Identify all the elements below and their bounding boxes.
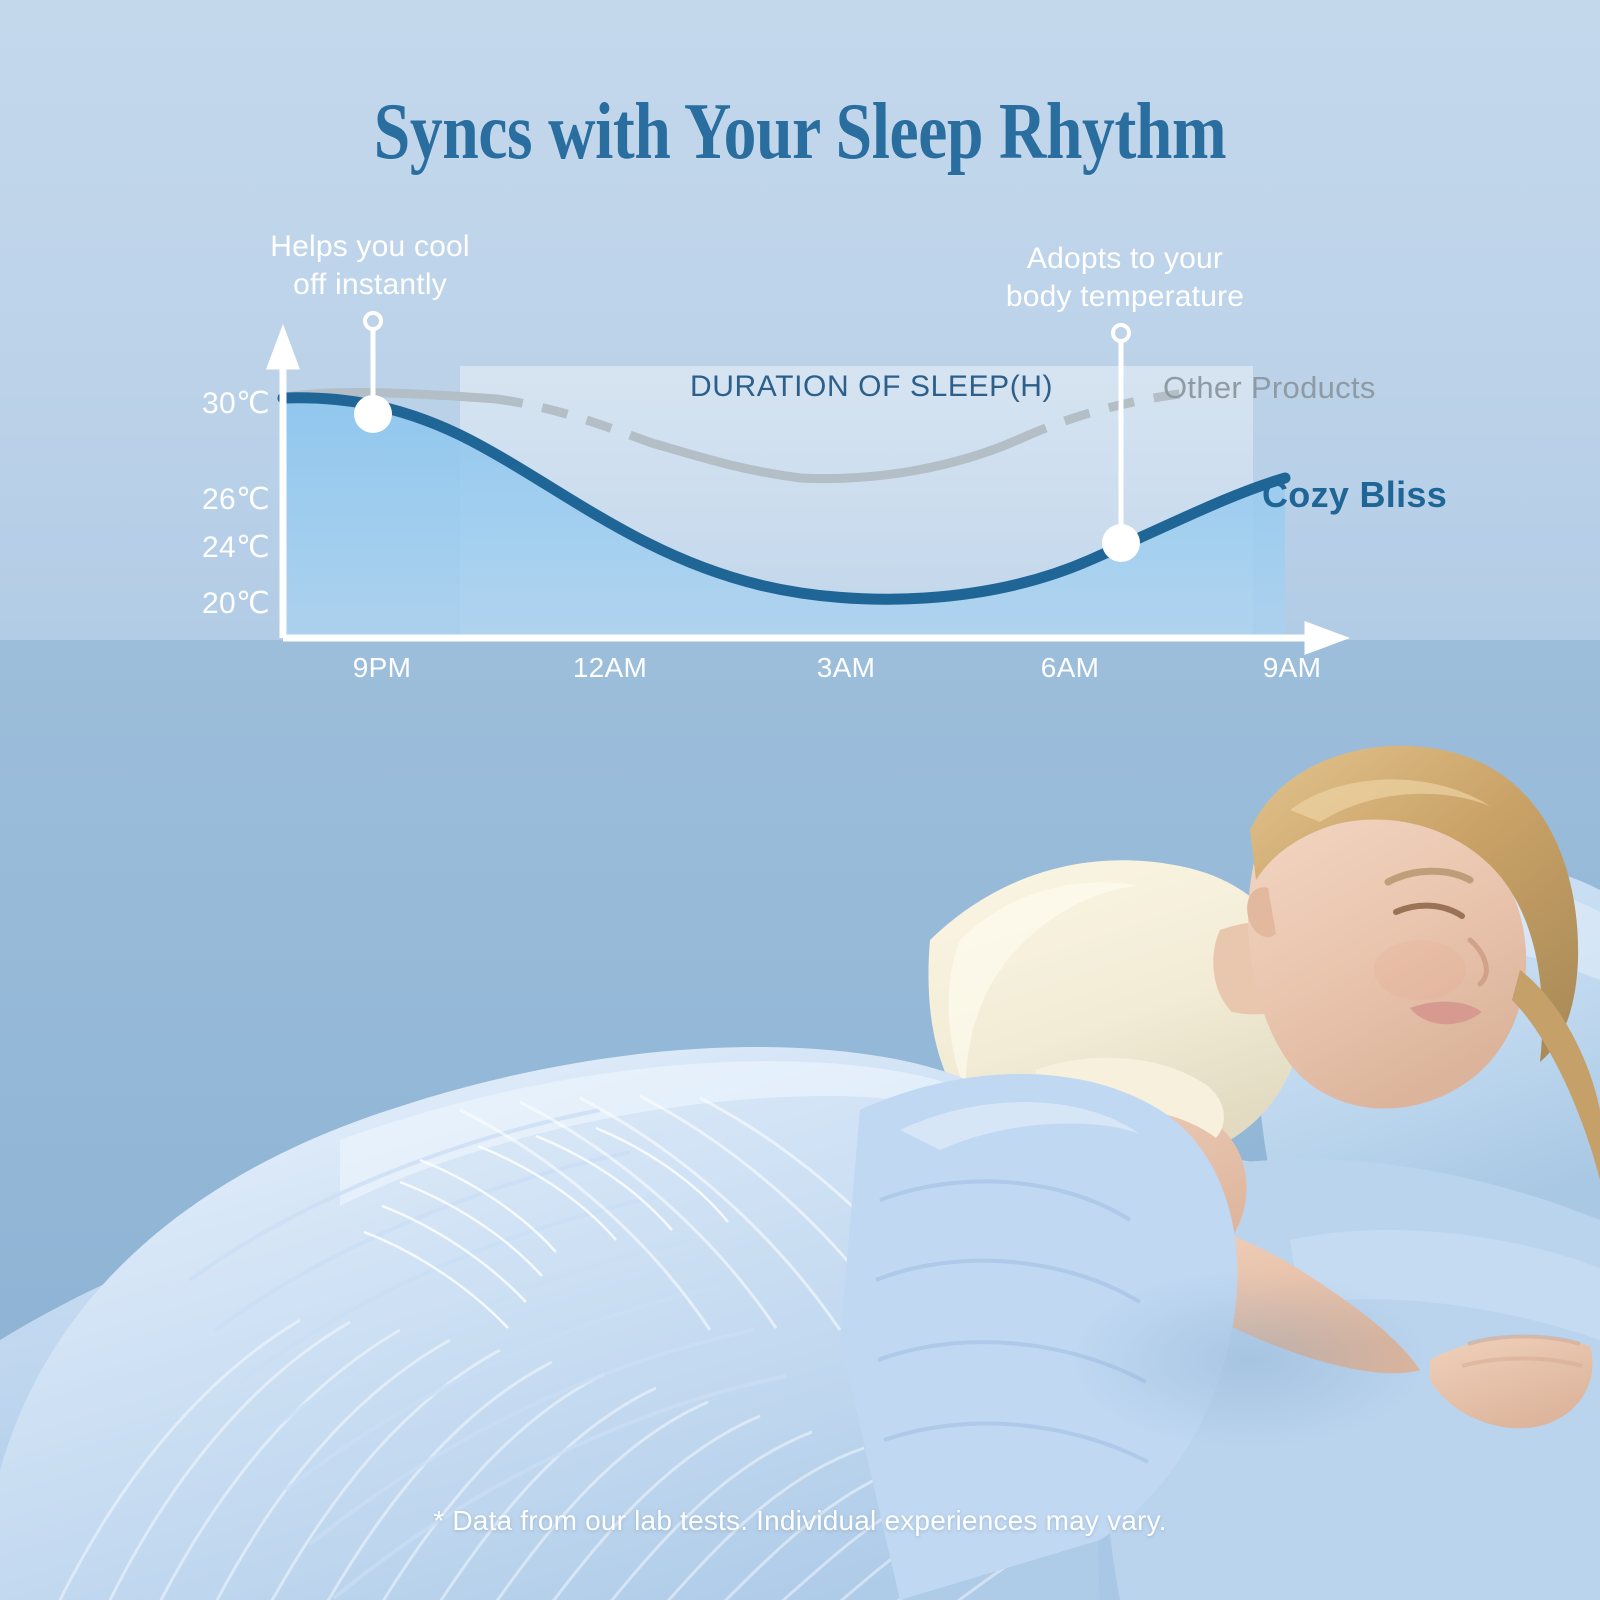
y-tick-30: 30℃	[180, 386, 270, 421]
callout-left-leader	[354, 313, 392, 433]
legend-cozy-bliss: Cozy Bliss	[1262, 474, 1447, 516]
sleep-duration-label: DURATION OF SLEEP(H)	[690, 370, 1053, 404]
x-tick-9pm: 9PM	[312, 652, 452, 684]
x-tick-3am: 3AM	[776, 652, 916, 684]
y-tick-24: 24℃	[180, 530, 270, 565]
page-title: Syncs with Your Sleep Rhythm	[144, 92, 1456, 172]
disclaimer-footnote: * Data from our lab tests. Individual ex…	[0, 1505, 1600, 1537]
y-tick-26: 26℃	[180, 482, 270, 517]
callout-left-marker	[354, 395, 392, 433]
callout-cool-off: Helps you cool off instantly	[255, 228, 485, 305]
x-tick-6am: 6AM	[1000, 652, 1140, 684]
x-tick-12am: 12AM	[540, 652, 680, 684]
callout-right-marker	[1102, 524, 1140, 562]
y-tick-20: 20℃	[180, 586, 270, 621]
x-tick-9am: 9AM	[1222, 652, 1362, 684]
callout-adopts-temp: Adopts to your body temperature	[990, 240, 1260, 317]
hero-photo	[0, 640, 1600, 1600]
legend-other-products: Other Products	[1163, 370, 1376, 406]
